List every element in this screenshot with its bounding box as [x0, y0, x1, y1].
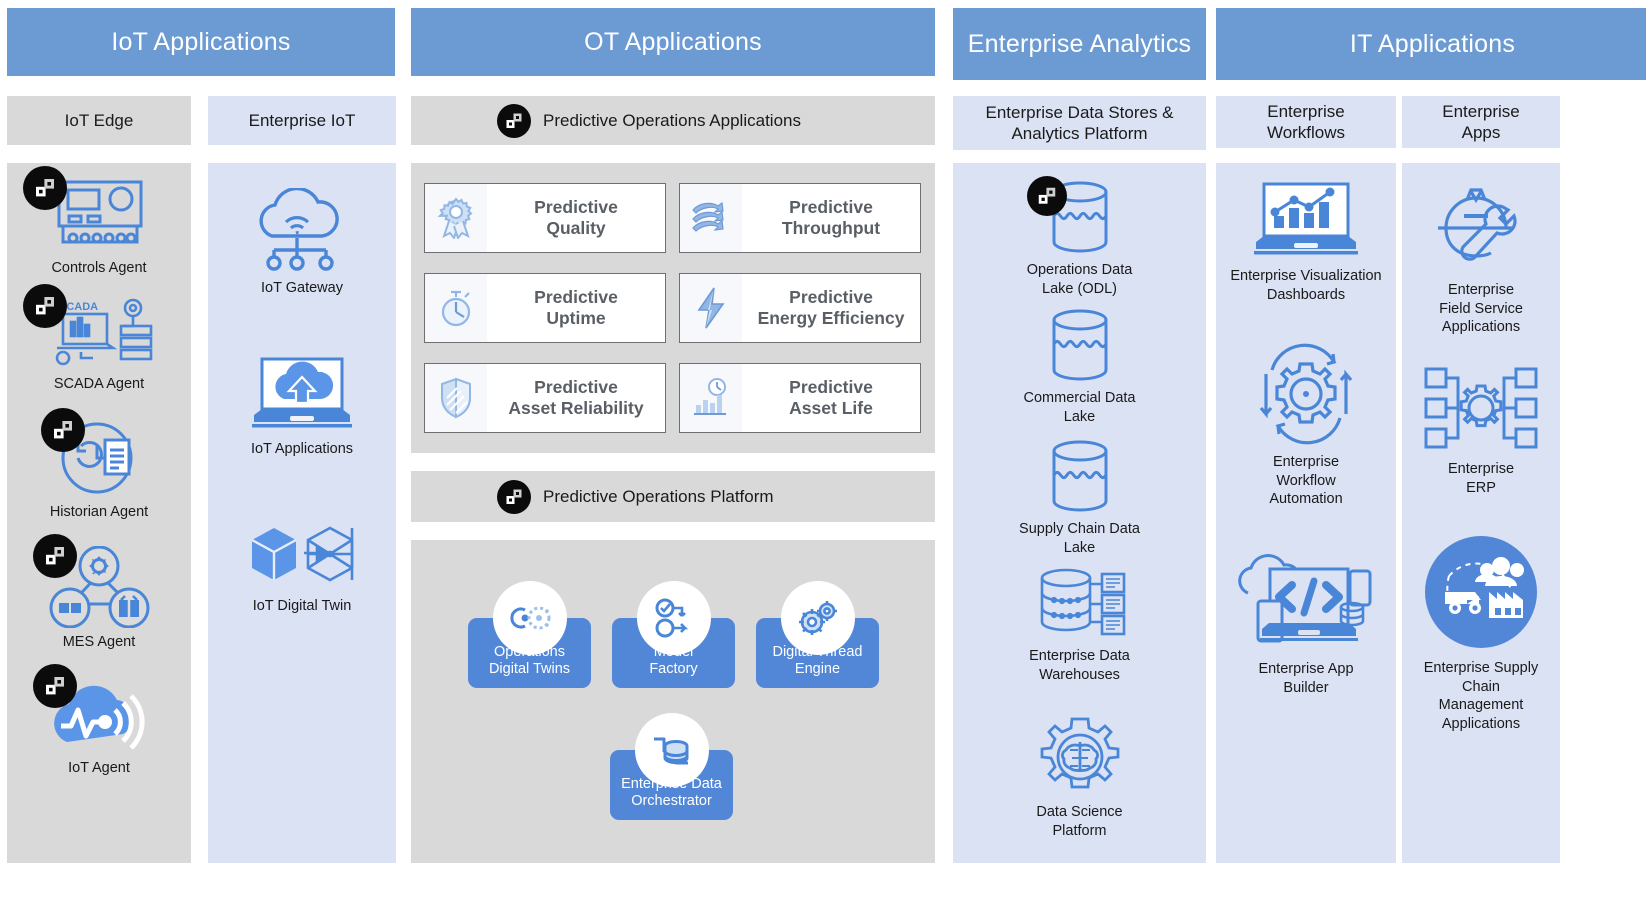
gears-icon — [781, 581, 855, 655]
subheader-predictive-operations-applications: Predictive Operations Applications — [411, 96, 935, 145]
card-label: Predictive Asset Life — [742, 364, 920, 432]
node-iot-applications[interactable]: IoT Applications — [208, 355, 396, 459]
node-label: Enterprise Supply Chain Management Appli… — [1424, 659, 1538, 733]
node-label: Historian Agent — [50, 503, 148, 522]
subheader-label: Predictive Operations Applications — [543, 110, 801, 131]
erp-gear-nodes-icon — [1420, 363, 1542, 455]
card-label: Predictive Throughput — [742, 184, 920, 252]
card-label: Predictive Asset Reliability — [487, 364, 665, 432]
node-enterprise-supply-chain[interactable]: Enterprise Supply Chain Management Appli… — [1402, 530, 1560, 733]
c3-logo-badge — [1027, 176, 1067, 216]
card-predictive-asset-life[interactable]: Predictive Asset Life — [679, 363, 921, 433]
banner-label: OT Applications — [584, 28, 762, 57]
node-label: IoT Applications — [251, 440, 353, 459]
node-label: Enterprise ERP — [1448, 460, 1514, 497]
node-iot-gateway[interactable]: IoT Gateway — [208, 188, 396, 298]
c3-logo-icon — [504, 111, 524, 131]
data-lake-icon — [1039, 437, 1121, 515]
card-predictive-quality[interactable]: Predictive Quality — [424, 183, 666, 253]
laptop-dashboard-icon — [1242, 180, 1370, 262]
node-scada-agent[interactable]: SCADA SCADA Agent — [7, 296, 191, 394]
data-lake-icon — [1039, 178, 1121, 256]
subheader-label: Predictive Operations Platform — [543, 486, 774, 507]
architecture-diagram: IoT Applications OT Applications Enterpr… — [0, 0, 1646, 914]
digital-twin-icon — [493, 581, 567, 655]
subheader-iot-edge: IoT Edge — [7, 96, 191, 145]
bar-chart-clock-icon — [680, 364, 742, 432]
chip-enterprise-data-orchestrator[interactable]: Enterprise Data Orchestrator — [610, 750, 733, 820]
banner-label: IT Applications — [1350, 30, 1515, 59]
hardhat-wrench-icon — [1424, 172, 1538, 276]
subheader-label: IoT Edge — [65, 110, 134, 131]
card-predictive-energy-efficiency[interactable]: Predictive Energy Efficiency — [679, 273, 921, 343]
node-operations-data-lake[interactable]: Operations Data Lake (ODL) — [953, 178, 1206, 298]
node-label: MES Agent — [63, 633, 136, 652]
node-label: IoT Gateway — [261, 279, 343, 298]
c3-logo-badge — [33, 664, 77, 708]
data-lake-icon — [1039, 306, 1121, 384]
subheader-label: Enterprise IoT — [249, 110, 356, 131]
controller-icon — [41, 176, 157, 254]
card-label: Predictive Quality — [487, 184, 665, 252]
banner-ot-applications: OT Applications — [411, 8, 935, 76]
c3-logo-badge — [497, 104, 531, 138]
code-devices-icon — [1232, 545, 1380, 655]
supply-chain-icon — [1419, 530, 1543, 654]
lightning-bolt-icon — [680, 274, 742, 342]
node-supply-chain-data-lake[interactable]: Supply Chain Data Lake — [953, 437, 1206, 557]
cube-to-wireframe-icon — [238, 520, 366, 592]
node-label: IoT Agent — [68, 759, 130, 778]
node-label: IoT Digital Twin — [253, 597, 352, 616]
c3-logo-badge — [23, 166, 67, 210]
node-enterprise-workflow-automation[interactable]: Enterprise Workflow Automation — [1211, 340, 1401, 509]
shield-icon — [425, 364, 487, 432]
award-ribbon-icon — [425, 184, 487, 252]
node-iot-digital-twin[interactable]: IoT Digital Twin — [208, 520, 396, 616]
iot-cloud-signal-icon — [43, 672, 155, 754]
card-predictive-throughput[interactable]: Predictive Throughput — [679, 183, 921, 253]
model-factory-icon — [637, 581, 711, 655]
node-enterprise-field-service[interactable]: Enterprise Field Service Applications — [1402, 172, 1560, 337]
subheader-enterprise-workflows: Enterprise Workflows — [1216, 96, 1396, 148]
chip-operations-digital-twins[interactable]: Operations Digital Twins — [468, 618, 591, 688]
gear-cycle-icon — [1248, 340, 1364, 448]
subheader-predictive-operations-platform: Predictive Operations Platform — [411, 471, 935, 522]
node-label: Commercial Data Lake — [1024, 389, 1136, 426]
c3-logo-badge — [33, 534, 77, 578]
c3-logo-badge — [497, 480, 531, 514]
scada-icon: SCADA — [41, 296, 157, 370]
node-label: SCADA Agent — [54, 375, 144, 394]
subheader-enterprise-apps: Enterprise Apps — [1402, 96, 1560, 148]
c3-logo-badge — [23, 284, 67, 328]
node-label: Enterprise Data Warehouses — [1029, 647, 1130, 684]
subheader-label: Enterprise Apps — [1442, 101, 1519, 144]
node-enterprise-erp[interactable]: Enterprise ERP — [1402, 363, 1560, 497]
chip-digital-thread-engine[interactable]: Digital Thread Engine — [756, 618, 879, 688]
node-controls-agent[interactable]: Controls Agent — [7, 176, 191, 278]
node-data-science-platform[interactable]: Data Science Platform — [953, 716, 1206, 840]
card-label: Predictive Energy Efficiency — [742, 274, 920, 342]
data-orchestrator-icon — [635, 713, 709, 787]
node-label: Data Science Platform — [1036, 803, 1122, 840]
subheader-enterprise-data-stores: Enterprise Data Stores & Analytics Platf… — [953, 96, 1206, 150]
banner-it-applications: IT Applications — [1216, 8, 1646, 80]
node-label: Enterprise Field Service Applications — [1439, 281, 1523, 337]
node-mes-agent[interactable]: MES Agent — [7, 546, 191, 652]
laptop-cloud-upload-icon — [242, 355, 362, 435]
cloud-wifi-gateway-icon — [246, 188, 358, 274]
node-label: Enterprise App Builder — [1258, 660, 1353, 697]
banner-iot-applications: IoT Applications — [7, 8, 395, 76]
banner-label: IoT Applications — [111, 28, 290, 57]
subheader-label: Enterprise Data Stores & Analytics Platf… — [985, 102, 1173, 145]
node-label: Controls Agent — [51, 259, 146, 278]
node-label: Supply Chain Data Lake — [1019, 520, 1140, 557]
node-historian-agent[interactable]: Historian Agent — [7, 418, 191, 522]
node-label: Enterprise Workflow Automation — [1269, 453, 1342, 509]
data-warehouse-icon — [1028, 566, 1132, 642]
subheader-label: Enterprise Workflows — [1267, 101, 1345, 144]
banner-enterprise-analytics: Enterprise Analytics — [953, 8, 1206, 80]
chip-model-factory[interactable]: Model Factory — [612, 618, 735, 688]
historian-icon — [53, 418, 145, 498]
node-label: Operations Data Lake (ODL) — [1027, 261, 1133, 298]
banner-label: Enterprise Analytics — [968, 30, 1192, 59]
c3-logo-badge — [41, 408, 85, 452]
node-label: Enterprise Visualization Dashboards — [1230, 267, 1381, 304]
card-predictive-uptime[interactable]: Predictive Uptime — [424, 273, 666, 343]
c3-logo-icon — [504, 487, 524, 507]
node-enterprise-app-builder[interactable]: Enterprise App Builder — [1211, 545, 1401, 697]
node-enterprise-visualization-dashboards[interactable]: Enterprise Visualization Dashboards — [1211, 180, 1401, 304]
node-enterprise-data-warehouses[interactable]: Enterprise Data Warehouses — [953, 566, 1206, 684]
subheader-enterprise-iot: Enterprise IoT — [208, 96, 396, 145]
mes-network-icon — [43, 546, 155, 628]
gear-brain-icon — [1030, 716, 1130, 798]
stopwatch-icon — [425, 274, 487, 342]
card-label: Predictive Uptime — [487, 274, 665, 342]
card-predictive-asset-reliability[interactable]: Predictive Asset Reliability — [424, 363, 666, 433]
flow-arrows-icon — [680, 184, 742, 252]
node-commercial-data-lake[interactable]: Commercial Data Lake — [953, 306, 1206, 426]
node-iot-agent[interactable]: IoT Agent — [7, 672, 191, 778]
